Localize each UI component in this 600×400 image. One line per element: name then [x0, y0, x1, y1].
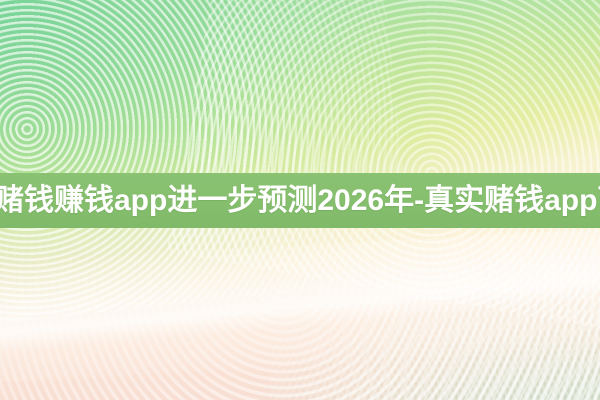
banner-title: 赌钱赚钱app进一步预测2026年-真实赌钱app下载	[0, 186, 600, 216]
title-band: 赌钱赚钱app进一步预测2026年-真实赌钱app下载	[0, 173, 600, 228]
promo-banner: 赌钱赚钱app进一步预测2026年-真实赌钱app下载	[0, 0, 600, 400]
background-teal-sweep	[228, 288, 600, 400]
background-green-sweep	[0, 0, 540, 320]
